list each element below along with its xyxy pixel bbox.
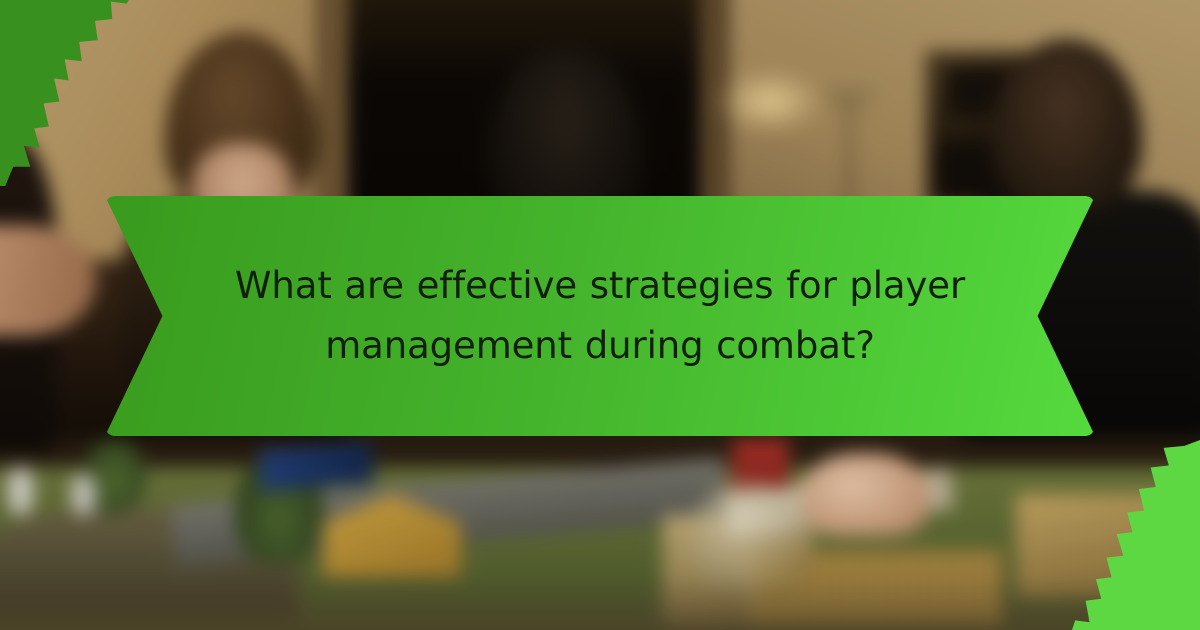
bg-foreground-shadow [0, 577, 1200, 630]
bg-lamp-glow [713, 67, 826, 136]
ribbon-content: What are effective strategies for player… [220, 256, 980, 376]
bg-miniature-1 [8, 467, 33, 515]
page-title: What are effective strategies for player… [232, 256, 968, 376]
bg-blue-book [258, 442, 374, 491]
ribbon-banner: What are effective strategies for player… [105, 196, 1095, 436]
social-card-canvas: What are effective strategies for player… [0, 0, 1200, 630]
bg-hand [802, 453, 928, 536]
bg-miniature-2 [71, 474, 96, 515]
